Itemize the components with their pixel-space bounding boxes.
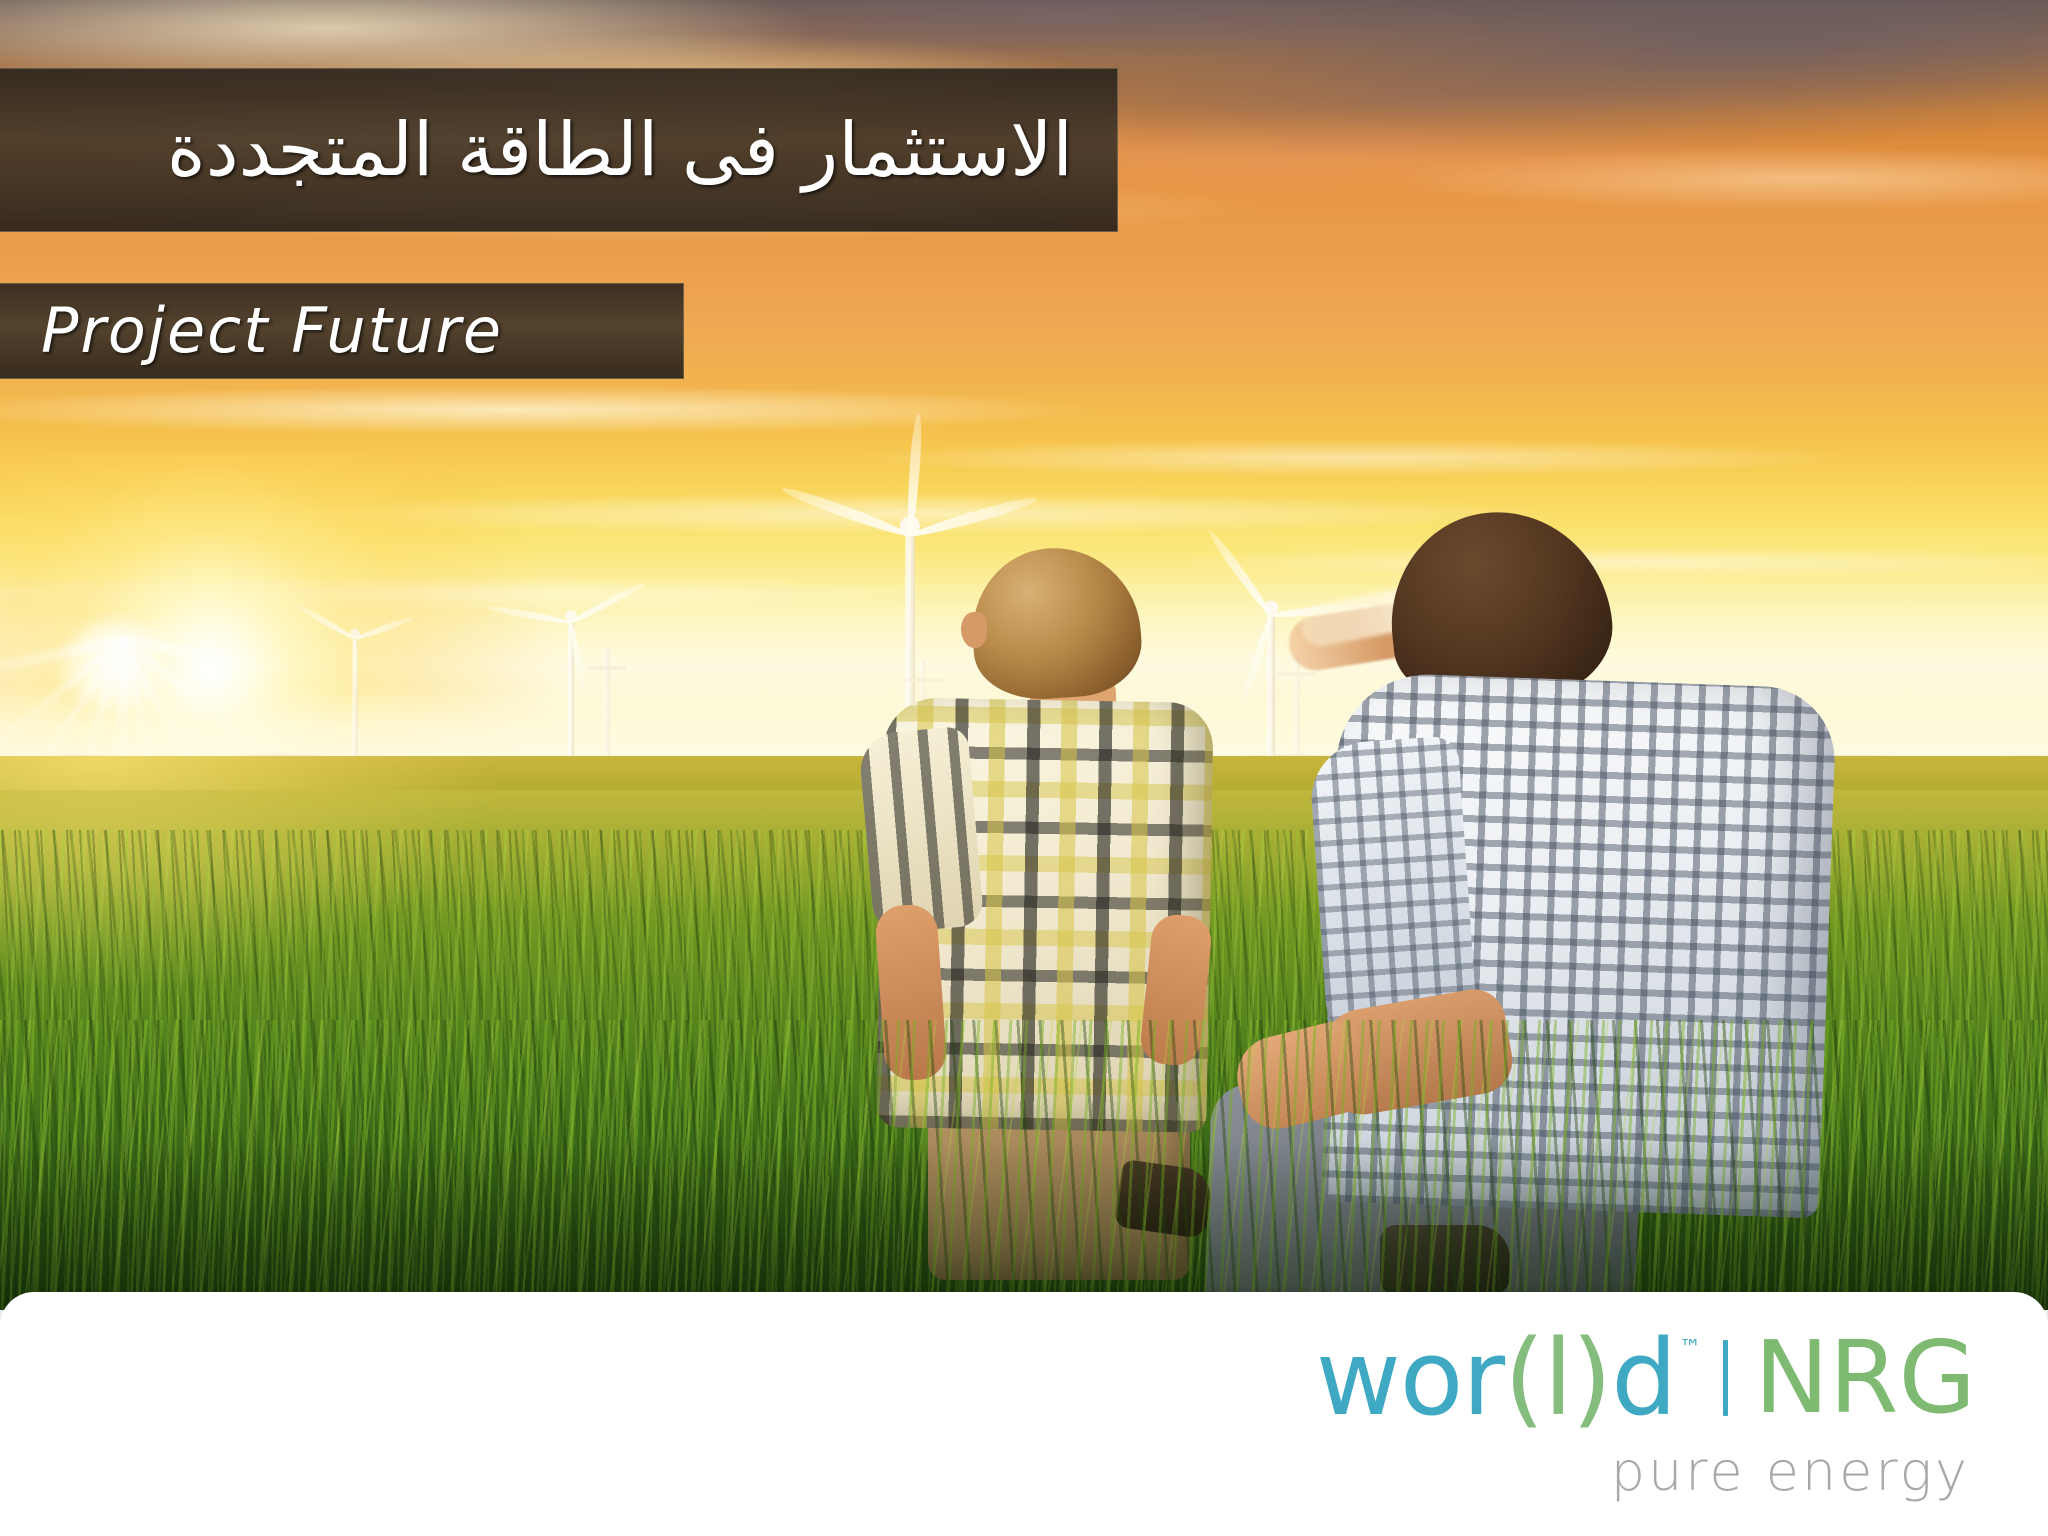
- boy-ear: [961, 612, 987, 648]
- brand-logo-row: wor ( l ) d ™ NRG: [1316, 1326, 1976, 1430]
- page-title: الاستثمار فى الطاقة المتجددة: [167, 113, 1073, 187]
- brand-product-name: NRG: [1754, 1328, 1976, 1428]
- brand-paren-close: ): [1572, 1326, 1612, 1430]
- man-shoe: [1380, 1225, 1510, 1295]
- brand-tagline: pure energy: [1611, 1440, 1970, 1503]
- boy-sleeve: [857, 726, 984, 935]
- page-subtitle: Project Future: [41, 300, 503, 362]
- brand-paren-open: (: [1504, 1326, 1544, 1430]
- brand-wor-text: wor: [1316, 1326, 1504, 1430]
- trademark-icon: ™: [1679, 1338, 1701, 1360]
- brand-logo: wor ( l ) d ™ NRG pure energy: [1316, 1326, 1976, 1503]
- footer-panel: wor ( l ) d ™ NRG pure energy: [0, 1292, 2048, 1536]
- logo-divider: [1723, 1340, 1728, 1416]
- title-banner: الاستثمار فى الطاقة المتجددة: [0, 68, 1118, 232]
- brand-d-letter: d: [1611, 1326, 1676, 1430]
- wind-turbine: [486, 600, 656, 780]
- boy-left-arm: [874, 903, 948, 1082]
- subtitle-banner: Project Future: [0, 283, 684, 379]
- brand-l-letter: l: [1544, 1326, 1572, 1430]
- presentation-slide: الاستثمار فى الطاقة المتجددة Project Fut…: [0, 0, 2048, 1536]
